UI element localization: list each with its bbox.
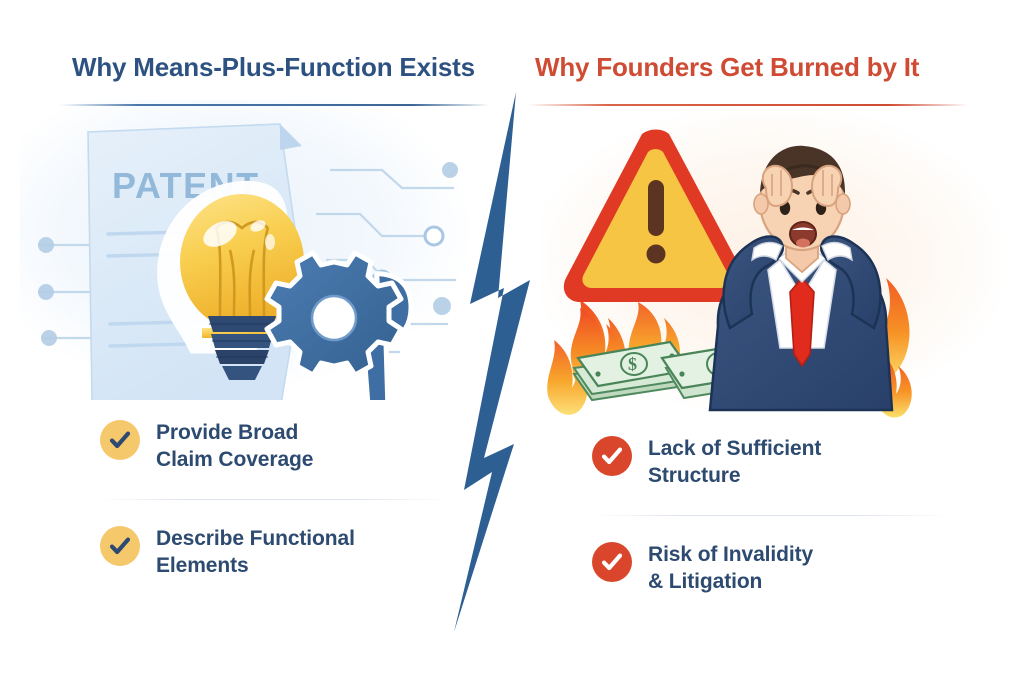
list-item-line: Describe Functional	[156, 525, 355, 552]
founder-burned-illustration: $ $	[540, 120, 960, 420]
left-panel-title: Why Means-Plus-Function Exists	[72, 52, 475, 83]
left-panel-bullet-list: Provide Broad Claim Coverage Describe Fu…	[100, 418, 430, 605]
right-panel: Why Founders Get Burned by It	[500, 0, 1024, 683]
left-title-underline	[60, 104, 490, 106]
right-panel-bullet-list: Lack of Sufficient Structure Risk of Inv…	[592, 434, 932, 621]
checkmark-glyph	[600, 444, 624, 468]
right-title-underline	[528, 104, 968, 106]
list-item-line: Lack of Sufficient	[648, 435, 821, 462]
list-item[interactable]: Lack of Sufficient Structure	[592, 434, 932, 516]
list-item[interactable]: Provide Broad Claim Coverage	[100, 418, 430, 500]
list-item-line: Claim Coverage	[156, 446, 313, 473]
list-item-line: Structure	[648, 462, 821, 489]
right-panel-title: Why Founders Get Burned by It	[535, 52, 919, 83]
list-item[interactable]: Risk of Invalidity & Litigation	[592, 516, 932, 622]
check-circle-icon	[592, 542, 632, 582]
right-panel-artwork: $ $	[540, 120, 960, 420]
warning-triangle-icon	[564, 130, 748, 303]
list-item-line: Risk of Invalidity	[648, 541, 813, 568]
list-item-label: Lack of Sufficient Structure	[648, 434, 821, 490]
list-item-label: Provide Broad Claim Coverage	[156, 418, 313, 474]
left-panel: Why Means-Plus-Function Exists	[0, 0, 500, 683]
stressed-founder-icon	[710, 146, 892, 410]
list-item[interactable]: Describe Functional Elements	[100, 500, 430, 606]
patent-innovation-illustration: PATENT	[30, 110, 460, 400]
list-item-label: Describe Functional Elements	[156, 524, 355, 580]
list-item-line: Elements	[156, 552, 355, 579]
check-circle-icon	[100, 420, 140, 460]
list-item-label: Risk of Invalidity & Litigation	[648, 540, 813, 596]
checkmark-glyph	[600, 550, 624, 574]
svg-text:$: $	[628, 354, 637, 374]
infographic-canvas: Why Means-Plus-Function Exists	[0, 0, 1024, 683]
checkmark-glyph	[108, 428, 132, 452]
list-item-line: & Litigation	[648, 568, 813, 595]
list-item-line: Provide Broad	[156, 419, 313, 446]
check-circle-icon	[592, 436, 632, 476]
checkmark-glyph	[108, 534, 132, 558]
left-panel-artwork: PATENT	[30, 110, 460, 400]
check-circle-icon	[100, 526, 140, 566]
lightning-bolt-glyph	[432, 92, 562, 632]
lightning-bolt-icon	[432, 92, 562, 632]
